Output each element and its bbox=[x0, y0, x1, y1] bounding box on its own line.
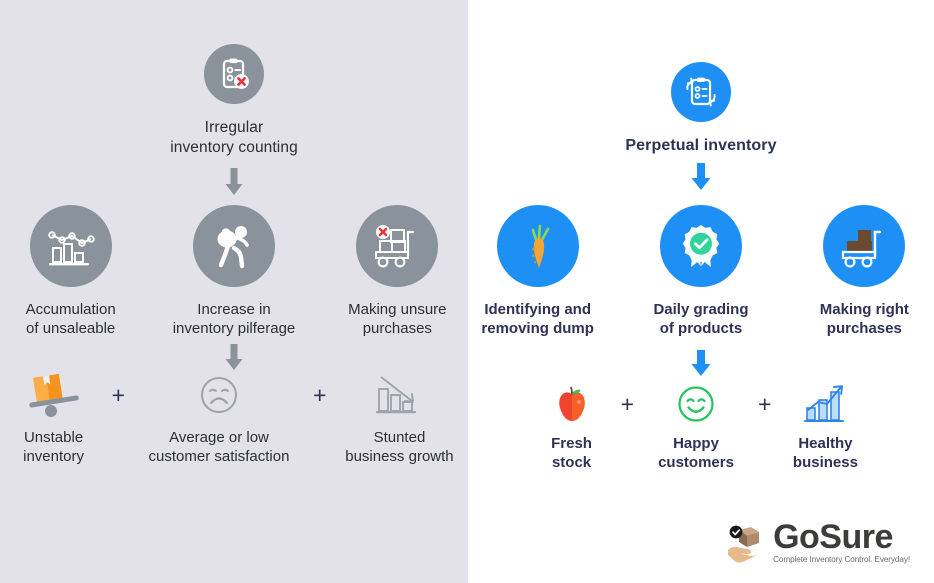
solution-action-item: Daily grading of products bbox=[631, 205, 770, 338]
label-line2: customer satisfaction bbox=[149, 447, 290, 466]
arrow-down-icon bbox=[689, 350, 713, 378]
problem-cause-item: Accumulation of unsaleable bbox=[0, 205, 141, 338]
label-line1: Accumulation bbox=[26, 300, 116, 319]
problem-cause-label: Making unsure purchases bbox=[348, 300, 446, 338]
declining-growth-chart-icon bbox=[372, 372, 426, 418]
problem-plus-separator: + bbox=[106, 372, 131, 418]
unbalanced-box-seesaw-icon bbox=[21, 372, 87, 418]
solution-action-label: Making right purchases bbox=[820, 300, 909, 338]
gosure-tagline: Complete Inventory Control. Everyday! bbox=[773, 555, 910, 565]
label-line2: business bbox=[793, 453, 858, 472]
label-line1: Identifying and bbox=[481, 300, 594, 319]
label-line1: Stunted bbox=[345, 428, 453, 447]
arrow-down-icon bbox=[689, 162, 713, 192]
label-line1: Unstable bbox=[23, 428, 84, 447]
solution-panel: Perpetual inventory bbox=[468, 0, 934, 583]
declining-bar-chart-icon bbox=[30, 205, 112, 287]
gosure-logo-text: GoSure Complete Inventory Control. Every… bbox=[773, 520, 910, 565]
problem-plus-separator: + bbox=[307, 372, 332, 418]
label-line1: Average or low bbox=[149, 428, 290, 447]
label-line1: Fresh bbox=[551, 434, 592, 453]
label-line2: of products bbox=[653, 319, 748, 338]
hand-holding-box-check-icon bbox=[725, 523, 767, 563]
problem-causes-row: Accumulation of unsaleable In bbox=[0, 205, 468, 338]
apple-icon bbox=[554, 384, 590, 424]
solution-outcome-label: Fresh stock bbox=[551, 434, 592, 472]
problem-outcome-item: Unstable inventory bbox=[2, 372, 106, 466]
problem-cause-label: Increase in inventory pilferage bbox=[173, 300, 296, 338]
solution-outcome-item: Happy customers bbox=[640, 384, 752, 472]
carrot-icon bbox=[497, 205, 579, 287]
solution-outcome-label: Healthy business bbox=[793, 434, 858, 472]
solution-mid-arrow bbox=[468, 350, 934, 378]
problem-cause-label: Accumulation of unsaleable bbox=[26, 300, 116, 338]
problem-outcome-item: Average or low customer satisfaction bbox=[131, 372, 307, 466]
problem-head-title-line2: inventory counting bbox=[170, 138, 298, 158]
label-line1: Happy bbox=[658, 434, 734, 453]
problem-head-block: Irregular inventory counting bbox=[0, 44, 468, 197]
solution-outcome-label: Happy customers bbox=[658, 434, 734, 472]
gosure-wordmark: GoSure bbox=[773, 520, 910, 554]
thief-carrying-sack-icon bbox=[193, 205, 275, 287]
problem-panel: Irregular inventory counting bbox=[0, 0, 468, 583]
label-line2: purchases bbox=[348, 319, 446, 338]
problem-outcome-item: Stunted business growth bbox=[332, 372, 466, 466]
arrow-down-icon bbox=[223, 344, 245, 372]
solution-outcome-item: Fresh stock bbox=[529, 384, 615, 472]
quality-badge-check-icon bbox=[660, 205, 742, 287]
solution-action-label: Identifying and removing dump bbox=[481, 300, 594, 338]
problem-outcome-label: Unstable inventory bbox=[23, 428, 84, 466]
problem-outcome-label: Stunted business growth bbox=[345, 428, 453, 466]
label-line2: stock bbox=[551, 453, 592, 472]
rising-growth-chart-icon bbox=[800, 384, 850, 424]
label-line1: Increase in bbox=[173, 300, 296, 319]
solution-head-title: Perpetual inventory bbox=[625, 136, 776, 156]
solution-action-item: Making right purchases bbox=[795, 205, 934, 338]
solution-plus-separator: + bbox=[752, 384, 777, 424]
clipboard-refresh-icon bbox=[671, 62, 731, 122]
solution-plus-separator: + bbox=[615, 384, 640, 424]
clipboard-x-icon bbox=[204, 44, 264, 104]
label-line2: inventory pilferage bbox=[173, 319, 296, 338]
solution-outcomes-row: Fresh stock + Happy customers bbox=[468, 384, 934, 472]
problem-cause-item: Making unsure purchases bbox=[327, 205, 468, 338]
label-line2: business growth bbox=[345, 447, 453, 466]
problem-head-title: Irregular inventory counting bbox=[170, 118, 298, 158]
cart-boxes-icon bbox=[823, 205, 905, 287]
sad-face-icon bbox=[199, 372, 239, 418]
solution-action-label: Daily grading of products bbox=[653, 300, 748, 338]
label-line2: removing dump bbox=[481, 319, 594, 338]
solution-action-item: Identifying and removing dump bbox=[468, 205, 607, 338]
infographic-root: Irregular inventory counting bbox=[0, 0, 934, 583]
label-line1: Making unsure bbox=[348, 300, 446, 319]
label-line1: Healthy bbox=[793, 434, 858, 453]
solution-actions-row: Identifying and removing dump Daily grad… bbox=[468, 205, 934, 338]
problem-outcomes-row: Unstable inventory + Average or low cu bbox=[0, 372, 468, 466]
label-line1: Making right bbox=[820, 300, 909, 319]
label-line2: customers bbox=[658, 453, 734, 472]
problem-head-title-line1: Irregular bbox=[170, 118, 298, 138]
solution-head-block: Perpetual inventory bbox=[468, 62, 934, 192]
label-line2: inventory bbox=[23, 447, 84, 466]
label-line2: of unsaleable bbox=[26, 319, 116, 338]
problem-cause-item: Increase in inventory pilferage bbox=[163, 205, 304, 338]
gosure-logo: GoSure Complete Inventory Control. Every… bbox=[725, 520, 910, 565]
happy-face-icon bbox=[676, 384, 716, 424]
solution-outcome-item: Healthy business bbox=[777, 384, 873, 472]
problem-mid-arrow bbox=[0, 344, 468, 372]
arrow-down-icon bbox=[223, 167, 245, 197]
problem-outcome-label: Average or low customer satisfaction bbox=[149, 428, 290, 466]
label-line1: Daily grading bbox=[653, 300, 748, 319]
cart-boxes-x-icon bbox=[356, 205, 438, 287]
label-line2: purchases bbox=[820, 319, 909, 338]
